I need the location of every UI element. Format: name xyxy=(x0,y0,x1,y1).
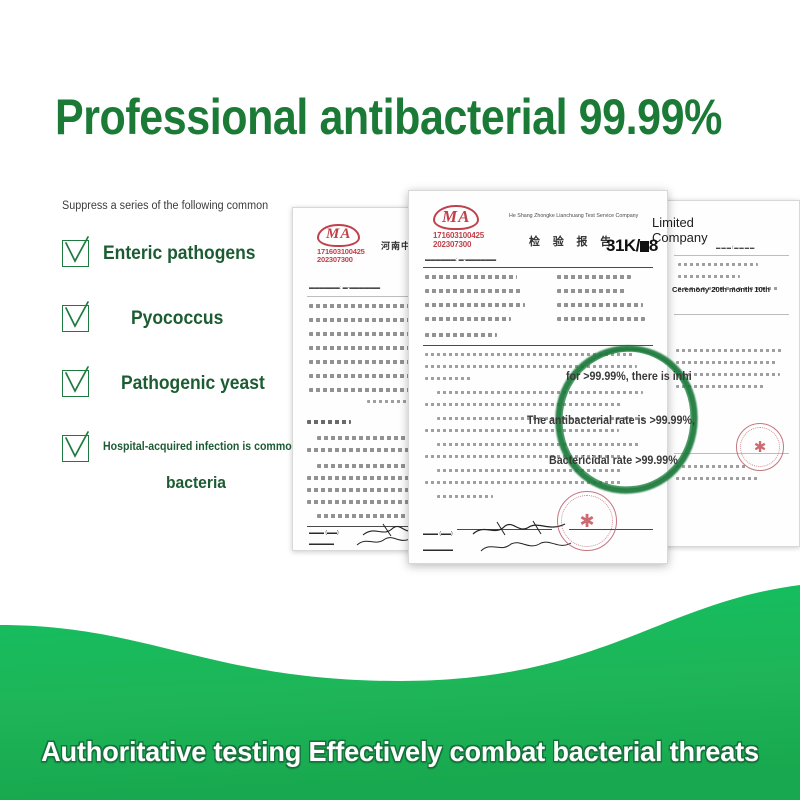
list-item: Pathogenic yeast xyxy=(62,370,277,397)
checkbox-icon xyxy=(62,435,89,462)
list-item-label: Pathogenic yeast xyxy=(121,370,265,396)
lab-name-en: He Shang Zhongke Lianchuang Test Service… xyxy=(509,213,638,219)
red-seal-stamp: ✱ xyxy=(736,423,784,471)
list-item-label: Pyococcus xyxy=(131,305,223,331)
annotation-line-1: for >99.99%, there is inhi xyxy=(566,371,692,383)
limited-company-label: Limited Company xyxy=(652,216,710,245)
list-item: Pyococcus xyxy=(62,305,231,332)
checkbox-icon xyxy=(62,240,89,267)
list-item-label: Enteric pathogens xyxy=(103,240,255,266)
list-item: Enteric pathogens xyxy=(62,240,269,267)
cma-accreditation-stamp: MA 171603100425 202307300 xyxy=(433,205,484,249)
ceremony-date-label: Ceremony 20th month 10th xyxy=(672,285,770,294)
list-item-label-continued: bacteria xyxy=(166,473,226,493)
list-item-label: Hospital-acquired infection is common xyxy=(103,435,298,454)
list-item: Hospital-acquired infection is common xyxy=(62,435,315,462)
checkbox-icon xyxy=(62,305,89,332)
cma-accreditation-stamp: MA 171603100425 202307300 xyxy=(317,224,365,265)
checkbox-icon xyxy=(62,370,89,397)
annotation-line-3: Bactericidal rate >99.99% xyxy=(549,455,678,467)
document-code-overlay: 31K/8 xyxy=(606,236,658,256)
annotation-line-2: The antibacterial rate is >99.99%, xyxy=(527,415,695,427)
infographic-canvas: Professional antibacterial 99.99% Suppre… xyxy=(0,0,800,800)
report-title-cn: 检 验 报 告 xyxy=(529,233,616,249)
checklist-subtitle: Suppress a series of the following commo… xyxy=(62,200,268,212)
red-seal-stamp: ✱ xyxy=(557,491,617,551)
bottom-banner-text: Authoritative testing Effectively combat… xyxy=(12,736,788,768)
signature-scribble xyxy=(471,519,569,539)
page-title: Professional antibacterial 99.99% xyxy=(55,88,722,146)
